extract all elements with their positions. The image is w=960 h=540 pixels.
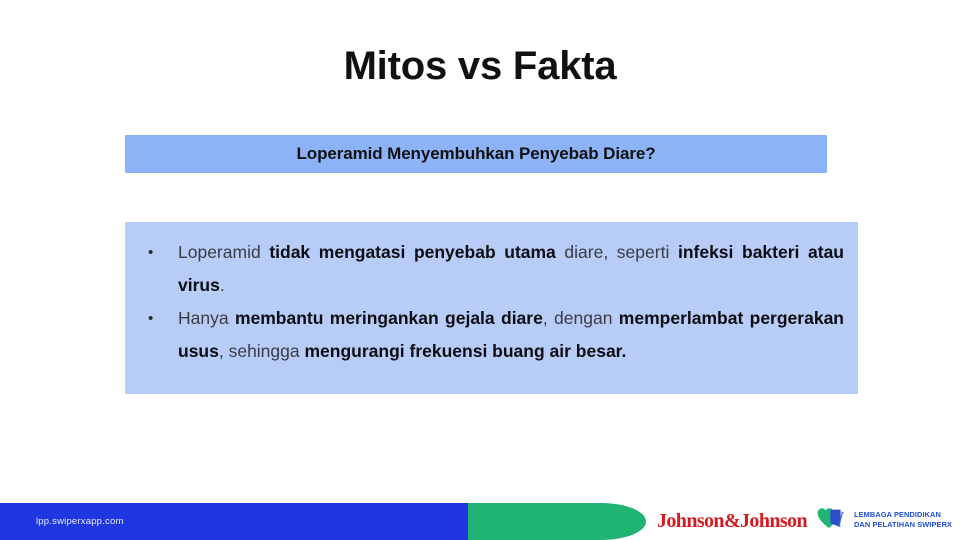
subtitle-banner: Loperamid Menyembuhkan Penyebab Diare? (125, 135, 827, 173)
lpp-logo-text: LEMBAGA PENDIDIKAN DAN PELATIHAN SWIPERX (854, 510, 952, 529)
johnson-and-johnson-logo: Johnson&Johnson (657, 510, 807, 533)
footer-url[interactable]: lpp.swiperxapp.com (36, 503, 124, 540)
list-item: Hanya membantu meringankan gejala diare,… (139, 302, 844, 368)
footer-green-shape (468, 503, 646, 540)
page-title: Mitos vs Fakta (0, 44, 960, 88)
subtitle-text: Loperamid Menyembuhkan Penyebab Diare? (297, 144, 656, 164)
lpp-logo-line-1: LEMBAGA PENDIDIKAN (854, 510, 941, 519)
lpp-logo-line-2: DAN PELATIHAN SWIPERX (854, 520, 952, 529)
footer-bar: lpp.swiperxapp.com Johnson&Johnson (0, 503, 960, 540)
bullet-list: Loperamid tidak mengatasi penyebab utama… (139, 236, 844, 368)
content-box: Loperamid tidak mengatasi penyebab utama… (125, 222, 858, 394)
lpp-swiperx-logo: LEMBAGA PENDIDIKAN DAN PELATIHAN SWIPERX (817, 507, 952, 533)
slide-canvas: Mitos vs Fakta Loperamid Menyembuhkan Pe… (0, 0, 960, 540)
heart-book-icon (817, 507, 848, 533)
list-item: Loperamid tidak mengatasi penyebab utama… (139, 236, 844, 302)
